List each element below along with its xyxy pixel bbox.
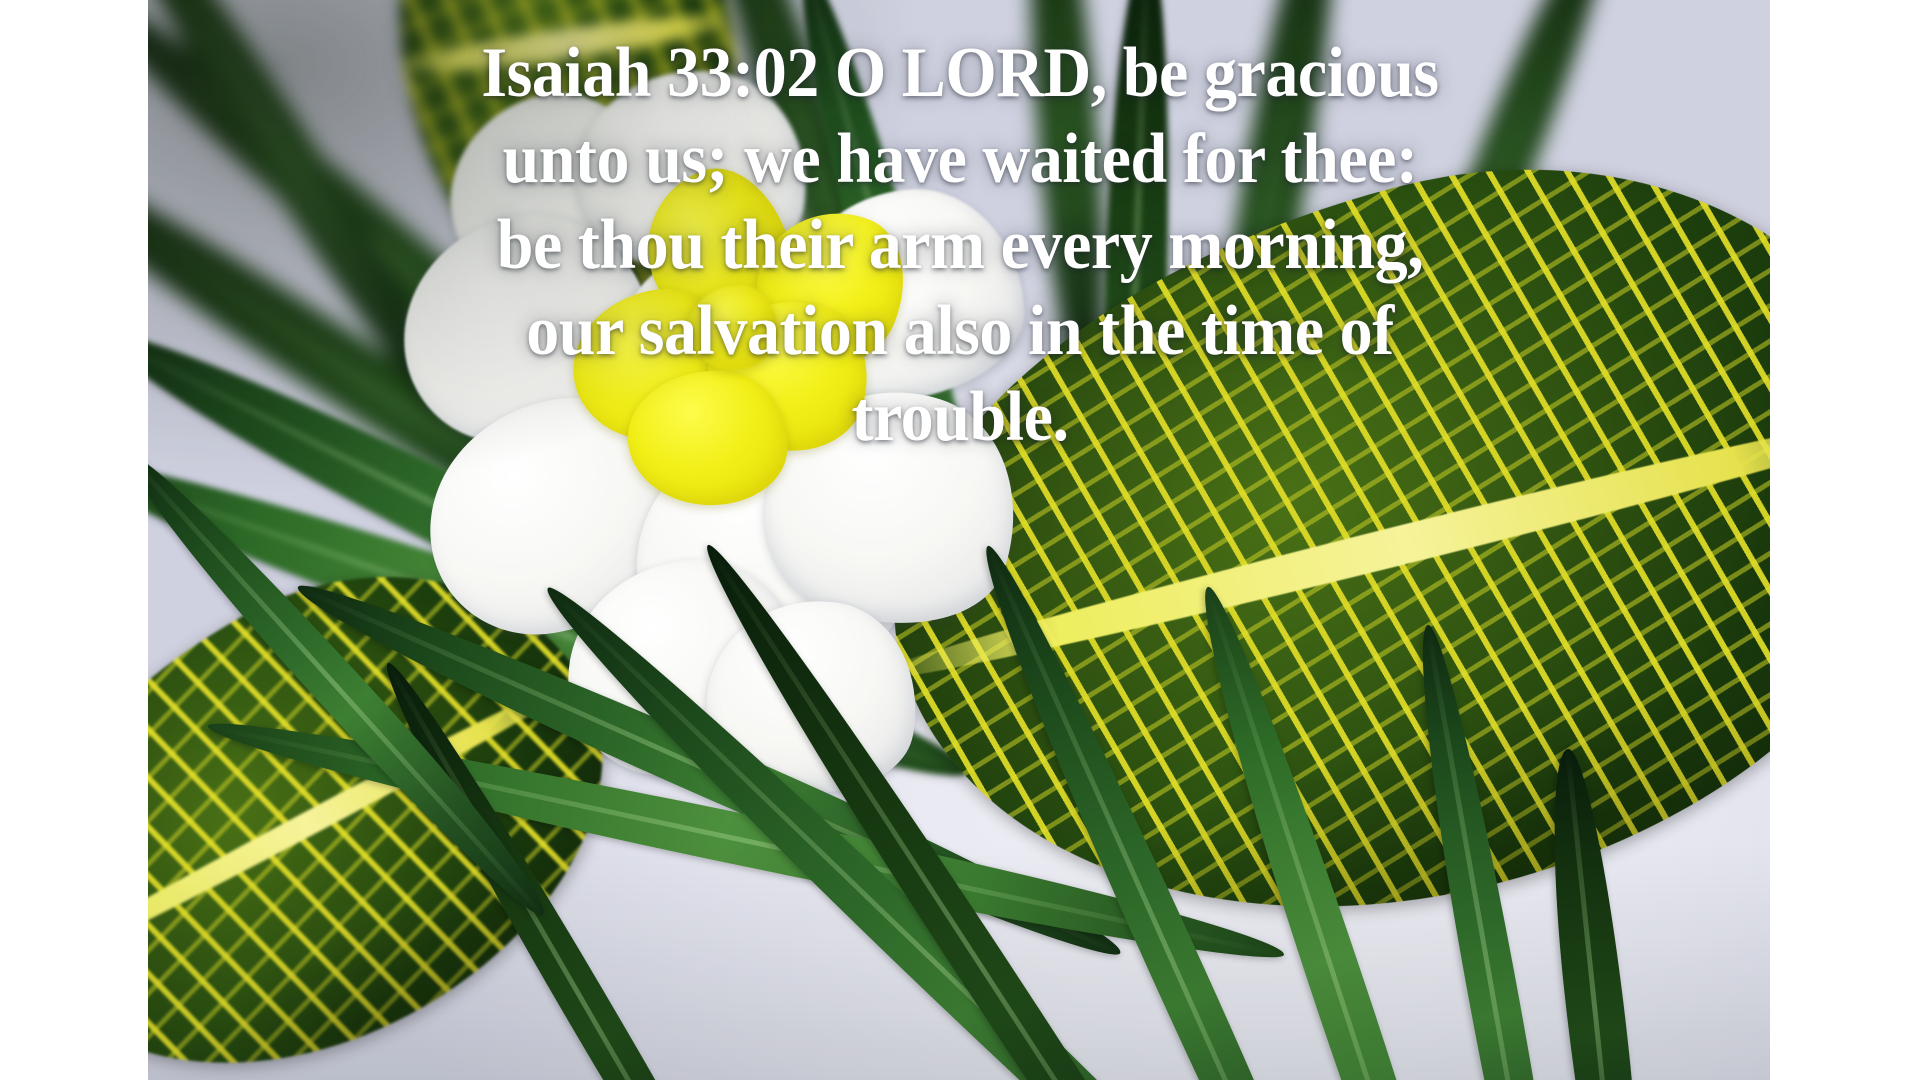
verse-image-page: Isaiah 33:02 O LORD, be gracious unto us…	[0, 0, 1920, 1080]
background-photo	[148, 0, 1770, 1080]
bottom-vignette	[148, 0, 1770, 1080]
